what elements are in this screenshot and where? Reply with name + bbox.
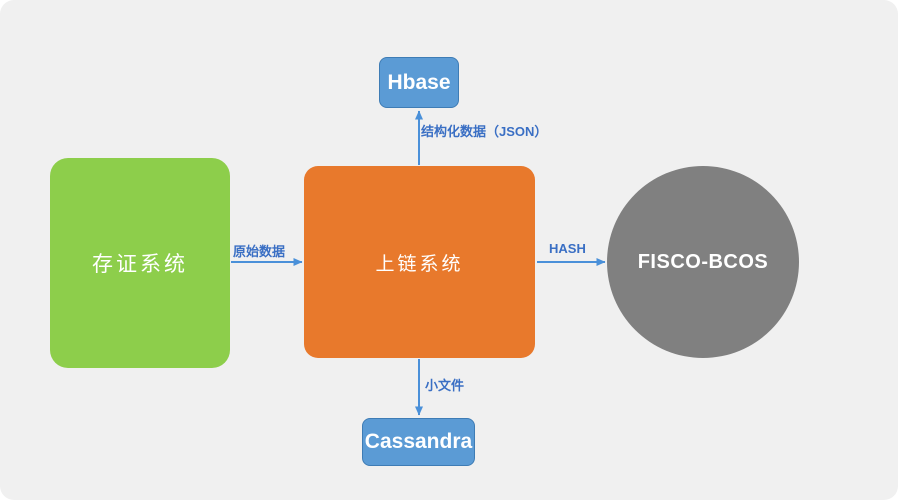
edge-label-small-file: 小文件: [425, 375, 464, 394]
node-hbase[interactable]: Hbase: [379, 57, 459, 108]
edge-label-hash: HASH: [549, 241, 586, 256]
edge-label-raw-data: 原始数据: [233, 241, 285, 260]
node-evidence-system[interactable]: 存证系统: [50, 158, 230, 368]
edge-label-structured-json: 结构化数据（JSON）: [421, 121, 547, 140]
diagram-canvas: 存证系统 上链系统 Hbase Cassandra FISCO-BCOS 原始数…: [0, 0, 898, 500]
node-cassandra[interactable]: Cassandra: [362, 418, 475, 466]
node-onchain-system[interactable]: 上链系统: [304, 166, 535, 358]
node-fisco-bcos[interactable]: FISCO-BCOS: [607, 166, 799, 358]
